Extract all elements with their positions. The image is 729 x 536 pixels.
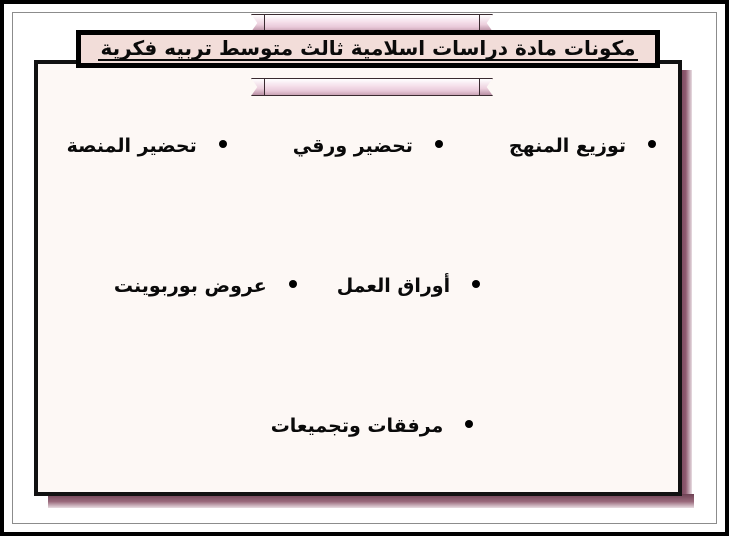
list-item-label: تحضير المنصة [67,136,197,157]
slide-title-plate: مكونات مادة دراسات اسلامية ثالث متوسط تر… [76,30,660,68]
page-title: مكونات مادة دراسات اسلامية ثالث متوسط تر… [98,38,637,61]
list-item[interactable]: أوراق العمل [337,276,480,297]
list-item[interactable]: تحضير المنصة [67,136,227,157]
bullet-row: مرفقات وتجميعات [74,416,670,437]
list-item[interactable]: عروض بوربوينت [114,276,297,297]
bullet-dot-icon [435,140,443,148]
bullet-row: أوراق العمل عروض بوربوينت [74,276,670,297]
bullet-rows: توزيع المنهج تحضير ورقي تحضير المنصة أور… [38,64,678,492]
list-item[interactable]: مرفقات وتجميعات [271,416,474,437]
list-item-label: توزيع المنهج [509,136,626,157]
bullet-dot-icon [472,280,480,288]
bullet-dot-icon [465,420,473,428]
slide-canvas: توزيع المنهج تحضير ورقي تحضير المنصة أور… [0,0,729,536]
content-card: توزيع المنهج تحضير ورقي تحضير المنصة أور… [34,60,682,496]
bullet-dot-icon [648,140,656,148]
bullet-dot-icon [219,140,227,148]
card-shadow-bottom [48,494,694,508]
list-item-label: عروض بوربوينت [114,276,267,297]
list-item[interactable]: تحضير ورقي [293,136,443,157]
list-item-label: أوراق العمل [337,276,450,297]
bullet-row: توزيع المنهج تحضير ورقي تحضير المنصة [74,136,670,157]
list-item-label: تحضير ورقي [293,136,413,157]
list-item-label: مرفقات وتجميعات [271,416,444,437]
list-item[interactable]: توزيع المنهج [509,136,656,157]
bullet-dot-icon [289,280,297,288]
